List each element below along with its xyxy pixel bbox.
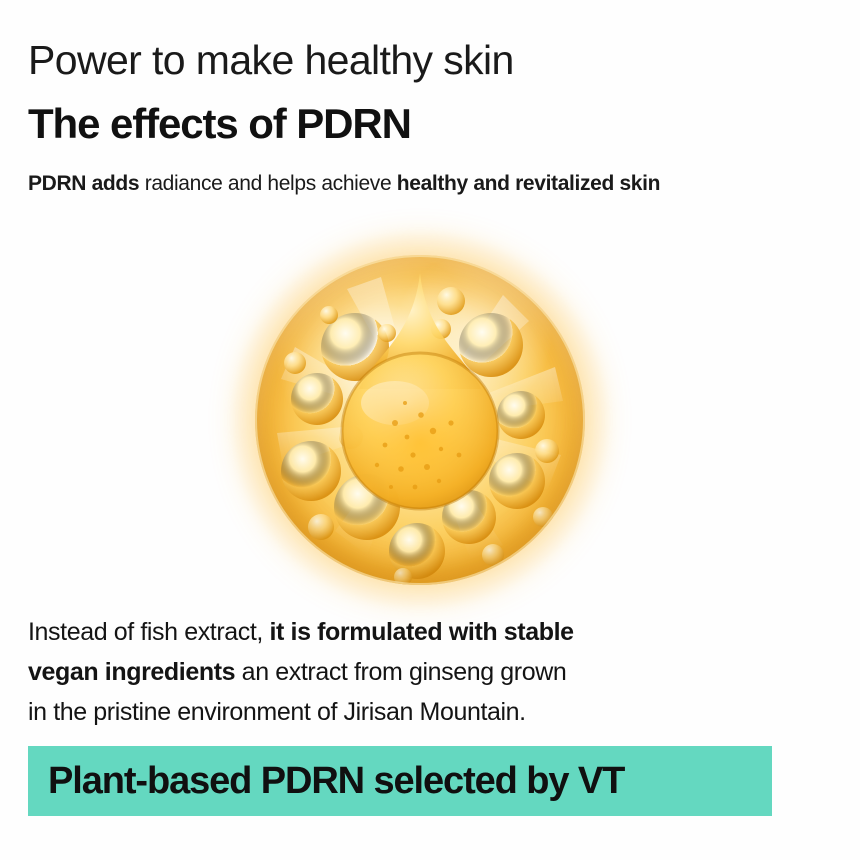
product-infographic-page: Power to make healthy skin The effects o…	[0, 0, 860, 860]
tagline-regular-mid: radiance and helps achieve	[139, 172, 397, 195]
page-subhead: The effects of PDRN	[28, 100, 411, 147]
tagline-bold-tail: healthy and revitalized skin	[397, 172, 660, 195]
body-line-2: vegan ingredients an extract from ginsen…	[28, 652, 574, 692]
body-line1-regular: Instead of fish extract,	[28, 618, 270, 646]
droplet-sphere	[255, 255, 585, 585]
highlight-banner: Plant-based PDRN selected by VT	[28, 746, 772, 816]
droplet-detail-icon	[255, 255, 585, 585]
body-line-1: Instead of fish extract, it is formulate…	[28, 612, 574, 652]
body-line2-regular: an extract from ginseng grown	[235, 658, 566, 686]
page-tagline: PDRN adds radiance and helps achieve hea…	[28, 170, 660, 197]
body-line2-bold: vegan ingredients	[28, 658, 235, 686]
page-headline: Power to make healthy skin	[28, 38, 514, 84]
highlight-banner-label: Plant-based PDRN selected by VT	[48, 760, 624, 803]
tagline-bold-lead: PDRN adds	[28, 172, 139, 195]
body-paragraph: Instead of fish extract, it is formulate…	[28, 612, 574, 732]
body-line1-bold: it is formulated with stable	[270, 618, 574, 646]
body-line-3: in the pristine environment of Jirisan M…	[28, 692, 574, 732]
droplet-illustration	[232, 232, 608, 608]
